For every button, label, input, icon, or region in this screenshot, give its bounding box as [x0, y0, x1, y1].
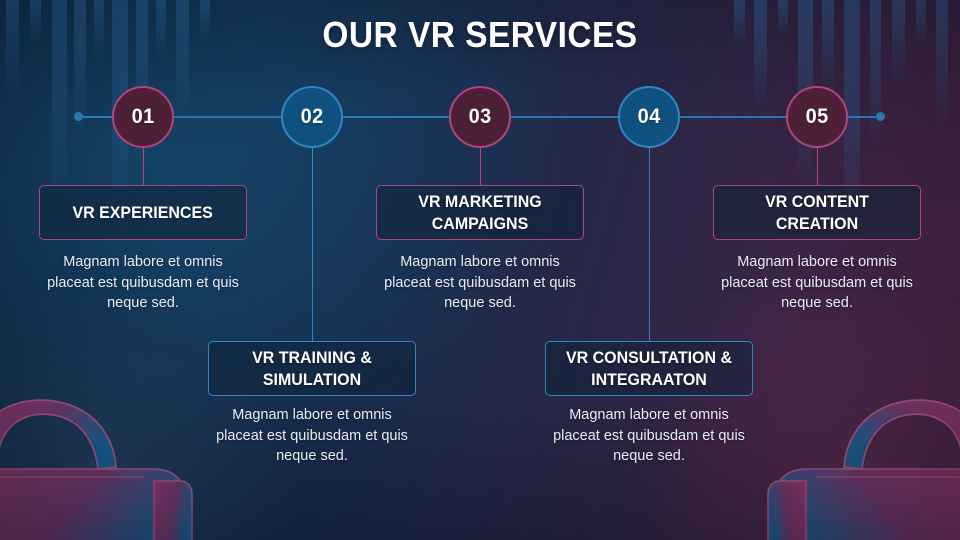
timeline-card-03[interactable]: VR MARKETING CAMPAIGNS [376, 185, 584, 240]
timeline-card-title-04: VR CONSULTATION & INTEGRAATON [562, 347, 737, 391]
timeline-marker-02[interactable]: 02 [281, 86, 343, 148]
timeline-description-01: Magnam labore et omnis placeat est quibu… [44, 252, 242, 314]
timeline: 01 VR EXPERIENCES Magnam labore et omnis… [0, 0, 960, 540]
timeline-stem-01 [143, 146, 145, 185]
timeline-description-03: Magnam labore et omnis placeat est quibu… [381, 252, 579, 314]
timeline-card-title-05: VR CONTENT CREATION [730, 191, 905, 235]
timeline-marker-01[interactable]: 01 [112, 86, 174, 148]
timeline-marker-number-04: 04 [637, 105, 660, 129]
timeline-marker-number-03: 03 [468, 105, 491, 129]
timeline-marker-number-02: 02 [300, 105, 323, 129]
timeline-card-04[interactable]: VR CONSULTATION & INTEGRAATON [545, 341, 753, 396]
timeline-card-05[interactable]: VR CONTENT CREATION [713, 185, 921, 240]
timeline-description-04: Magnam labore et omnis placeat est quibu… [550, 405, 748, 467]
axis-end-dot-left [74, 112, 83, 121]
timeline-marker-04[interactable]: 04 [618, 86, 680, 148]
timeline-stem-03 [480, 146, 482, 185]
timeline-card-02[interactable]: VR TRAINING & SIMULATION [208, 341, 416, 396]
timeline-card-title-02: VR TRAINING & SIMULATION [225, 347, 400, 391]
timeline-marker-number-05: 05 [805, 105, 828, 129]
timeline-card-title-03: VR MARKETING CAMPAIGNS [393, 191, 568, 235]
timeline-description-05: Magnam labore et omnis placeat est quibu… [718, 252, 916, 314]
timeline-card-title-01: VR EXPERIENCES [73, 202, 213, 224]
timeline-stem-02 [312, 146, 314, 341]
timeline-marker-05[interactable]: 05 [786, 86, 848, 148]
timeline-description-02: Magnam labore et omnis placeat est quibu… [213, 405, 411, 467]
timeline-marker-03[interactable]: 03 [449, 86, 511, 148]
timeline-stem-04 [649, 146, 651, 341]
timeline-marker-number-01: 01 [131, 105, 154, 129]
axis-end-dot-right [876, 112, 885, 121]
timeline-card-01[interactable]: VR EXPERIENCES [39, 185, 247, 240]
timeline-stem-05 [817, 146, 819, 185]
